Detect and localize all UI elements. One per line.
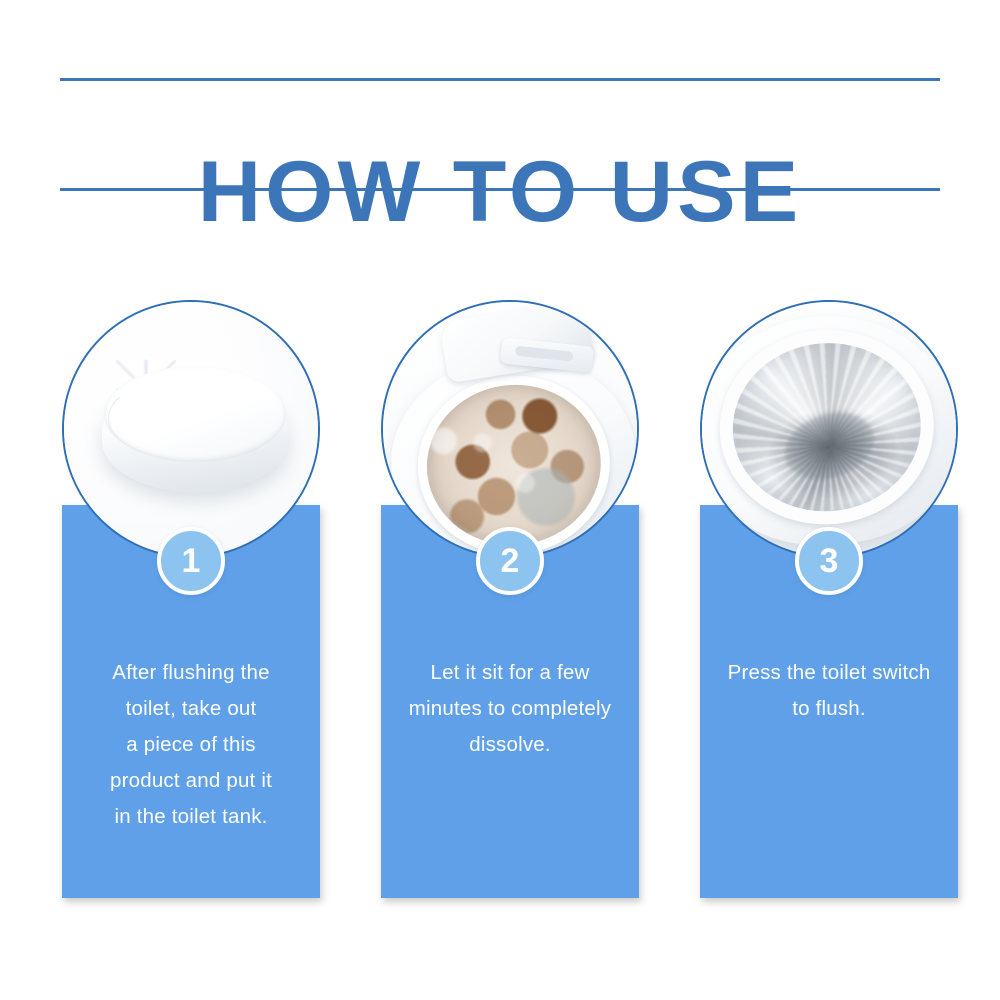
page-title: HOW TO USE (51, 140, 949, 244)
caption-line: product and put it (72, 763, 310, 799)
caption-line: to flush. (710, 691, 948, 727)
header: HOW TO USE (0, 0, 1000, 210)
step-3-caption: Press the toilet switch to flush. (710, 655, 948, 727)
caption-line: minutes to completely (391, 691, 629, 727)
caption-line: a piece of this (72, 727, 310, 763)
caption-line: Press the toilet switch (710, 655, 948, 691)
step-card-2: 2 Let it sit for a few minutes to comple… (381, 300, 639, 898)
flush-bowl-outer-shape (700, 305, 958, 555)
flushing-toilet-photo (702, 302, 956, 556)
step-badge-1: 1 (157, 527, 225, 595)
effervescent-tablet-photo (64, 302, 318, 556)
bowl-outer-shape (381, 342, 639, 558)
step-3-photo-circle (700, 300, 958, 558)
title-rule-bottom (60, 188, 940, 191)
title-rule-top (60, 78, 940, 81)
steps-container: 1 After flushing the toilet, take out a … (62, 300, 958, 900)
step-2-photo-circle (381, 300, 639, 558)
step-badge-2: 2 (476, 527, 544, 595)
caption-line: toilet, take out (72, 691, 310, 727)
caption-line: in the toilet tank. (72, 799, 310, 835)
step-badge-3: 3 (795, 527, 863, 595)
step-2-caption: Let it sit for a few minutes to complete… (391, 655, 629, 763)
caption-line: Let it sit for a few (391, 655, 629, 691)
step-1-photo-circle (62, 300, 320, 558)
caption-line: dissolve. (391, 727, 629, 763)
tablet-rim-shape (108, 374, 282, 462)
caption-line: After flushing the (72, 655, 310, 691)
step-1-caption: After flushing the toilet, take out a pi… (72, 655, 310, 835)
step-card-1: 1 After flushing the toilet, take out a … (62, 300, 320, 898)
stained-toilet-bowl-photo (383, 302, 637, 556)
step-card-3: 3 Press the toilet switch to flush. (700, 300, 958, 898)
